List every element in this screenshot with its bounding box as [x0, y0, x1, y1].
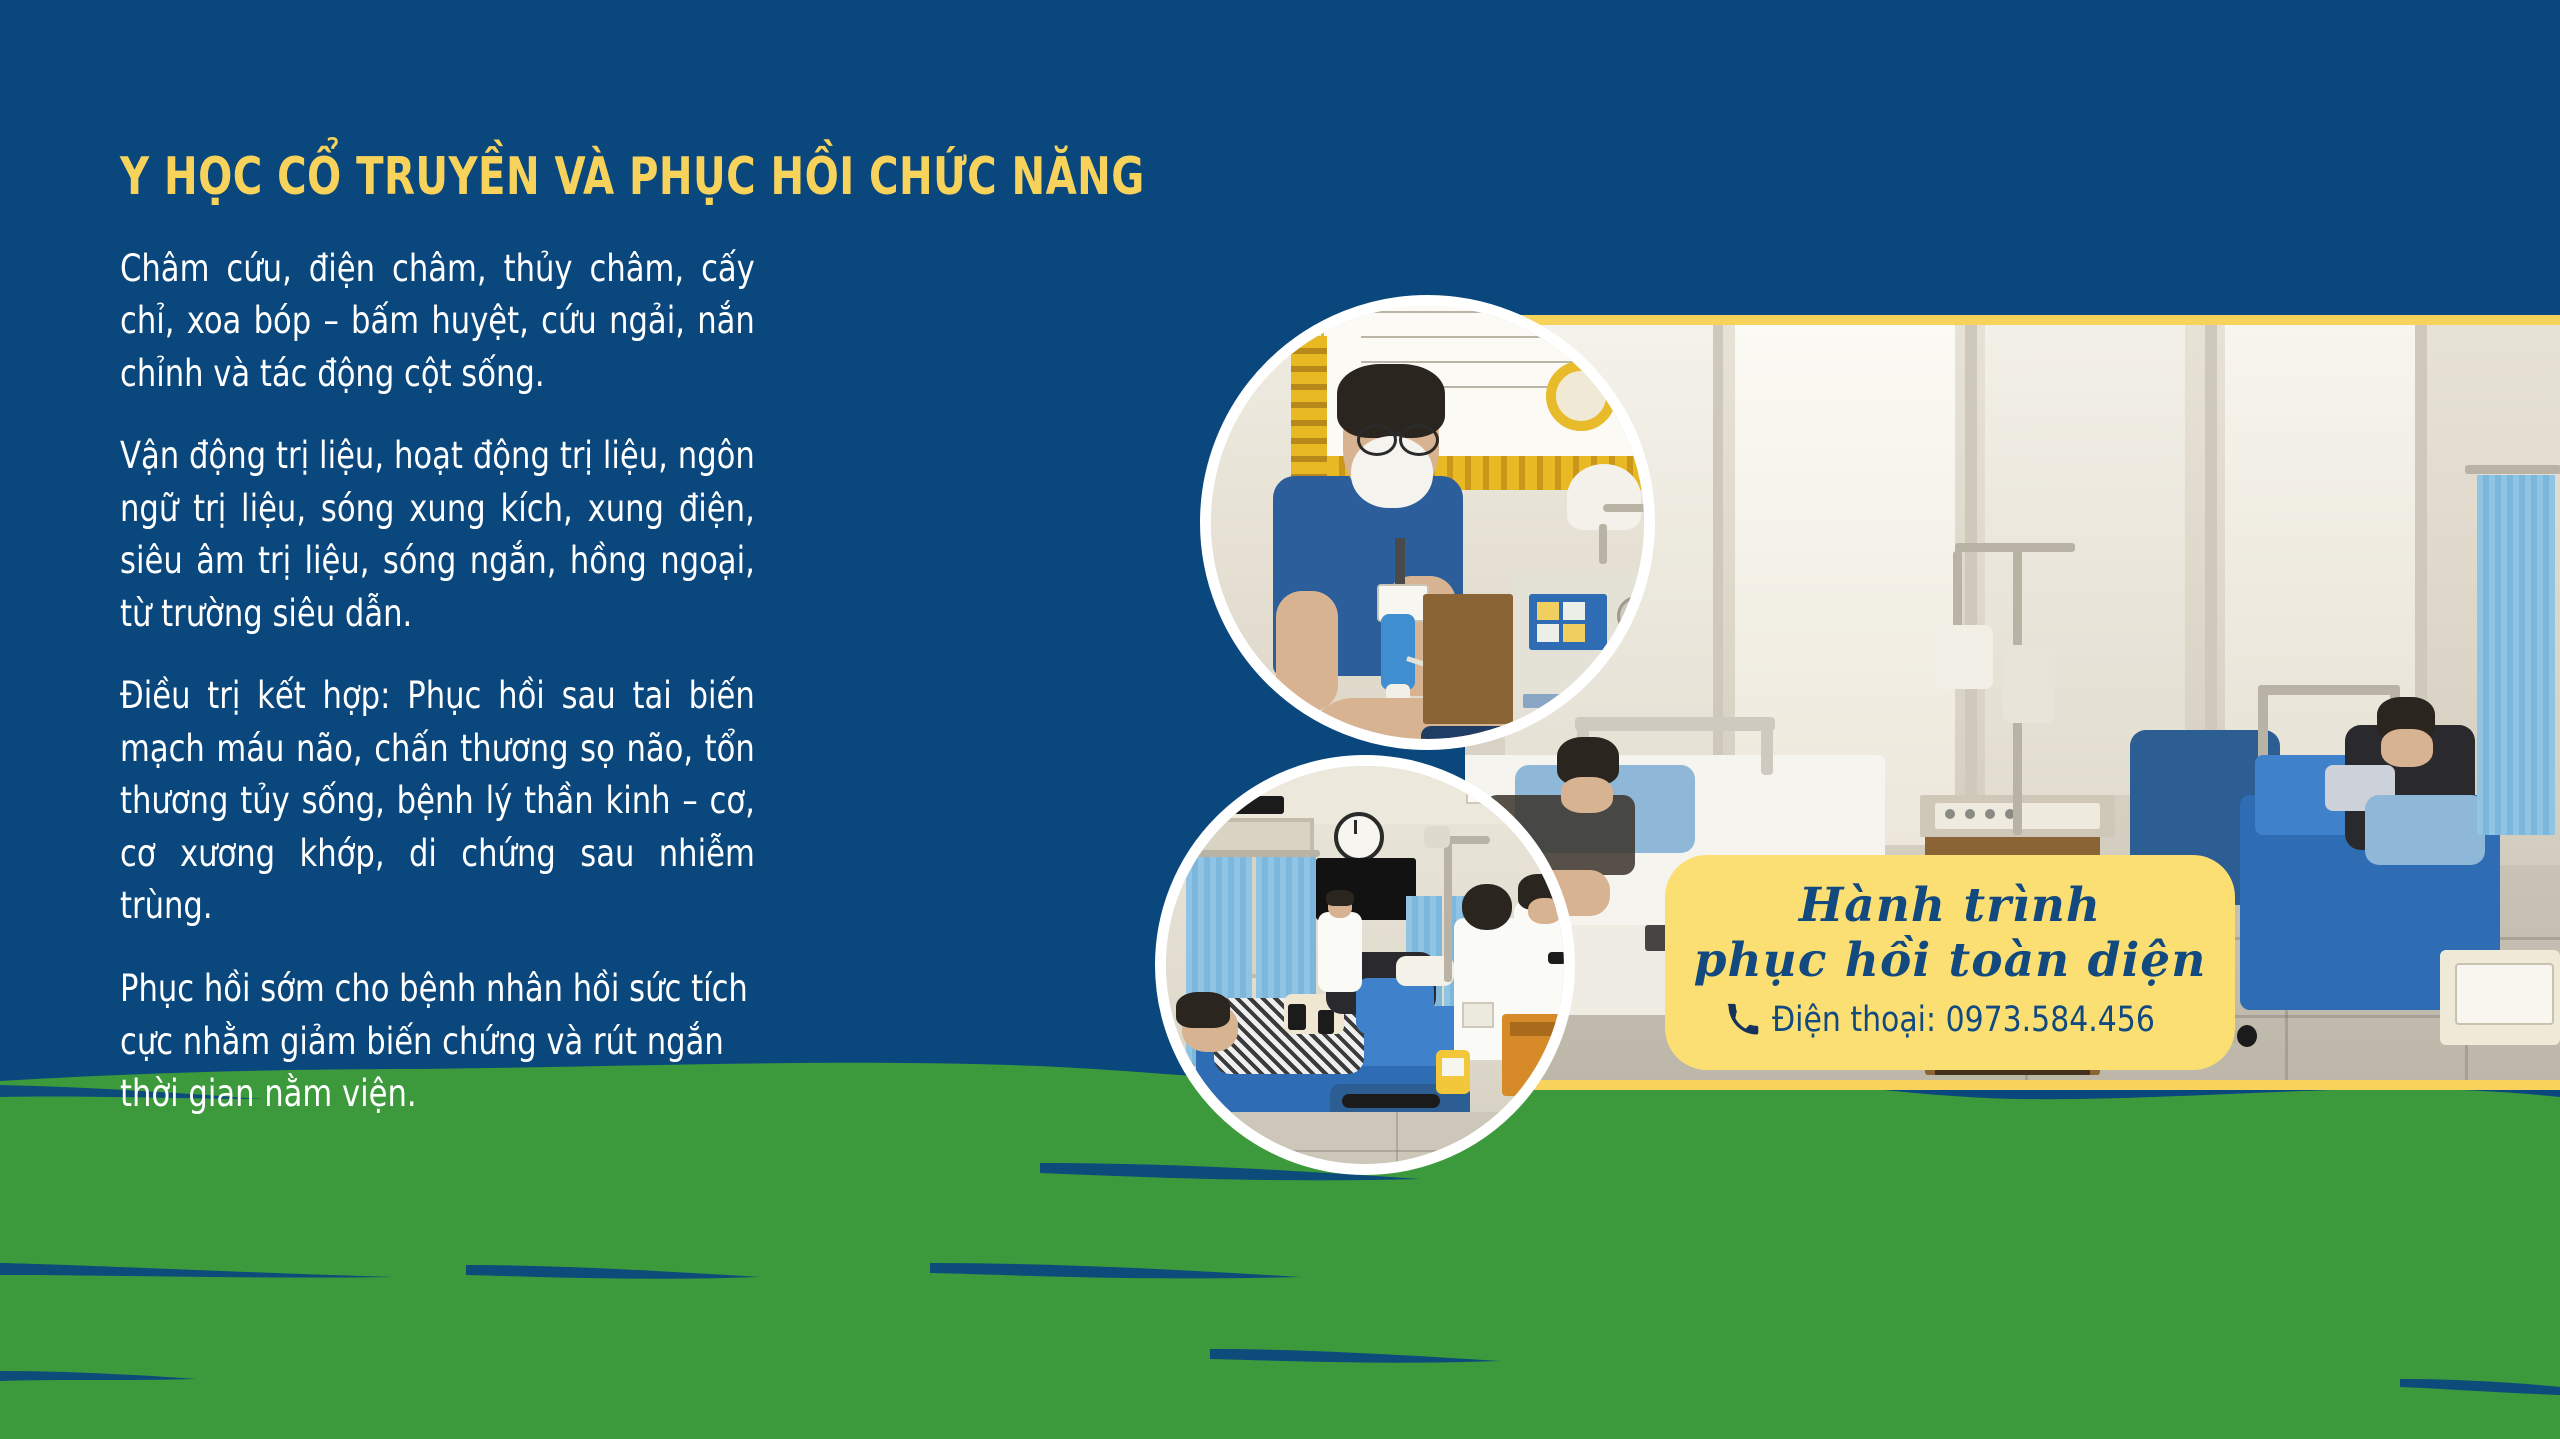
body-paragraph-2: Vận động trị liệu, hoạt động trị liệu, n…	[120, 430, 755, 640]
phone-row[interactable]: Điện thoại: 0973.584.456	[1726, 1000, 2175, 1040]
circle-photo-traction-scene	[1166, 766, 1564, 1164]
badge-script-text: Hành trình phục hồi toàn diện	[1694, 882, 2207, 984]
phone-number-label: Điện thoại: 0973.584.456	[1772, 1000, 2155, 1040]
badge-script-line-1: Hành trình	[1694, 882, 2207, 929]
circle-photo-acupuncture-scene	[1211, 306, 1644, 739]
badge-script-line-2: phục hồi toàn diện	[1694, 937, 2207, 984]
body-paragraph-4: Phục hồi sớm cho bệnh nhân hồi sức tích …	[120, 963, 755, 1121]
phone-icon	[1726, 1003, 1760, 1037]
body-paragraph-3: Điều trị kết hợp: Phục hồi sau tai biến …	[120, 670, 755, 933]
page-title: Y HỌC CỔ TRUYỀN VÀ PHỤC HỒI CHỨC NĂNG	[120, 150, 946, 205]
poster-root: Y HỌC CỔ TRUYỀN VÀ PHỤC HỒI CHỨC NĂNG Ch…	[0, 0, 2560, 1439]
circle-photo-traction	[1155, 755, 1575, 1175]
body-paragraph-1: Châm cứu, điện châm, thủy châm, cấy chỉ,…	[120, 243, 755, 401]
circle-photo-acupuncture	[1200, 295, 1655, 750]
text-column: Y HỌC CỔ TRUYỀN VÀ PHỤC HỒI CHỨC NĂNG Ch…	[120, 150, 1080, 1121]
contact-badge[interactable]: Hành trình phục hồi toàn diện Điện thoại…	[1665, 855, 2235, 1070]
